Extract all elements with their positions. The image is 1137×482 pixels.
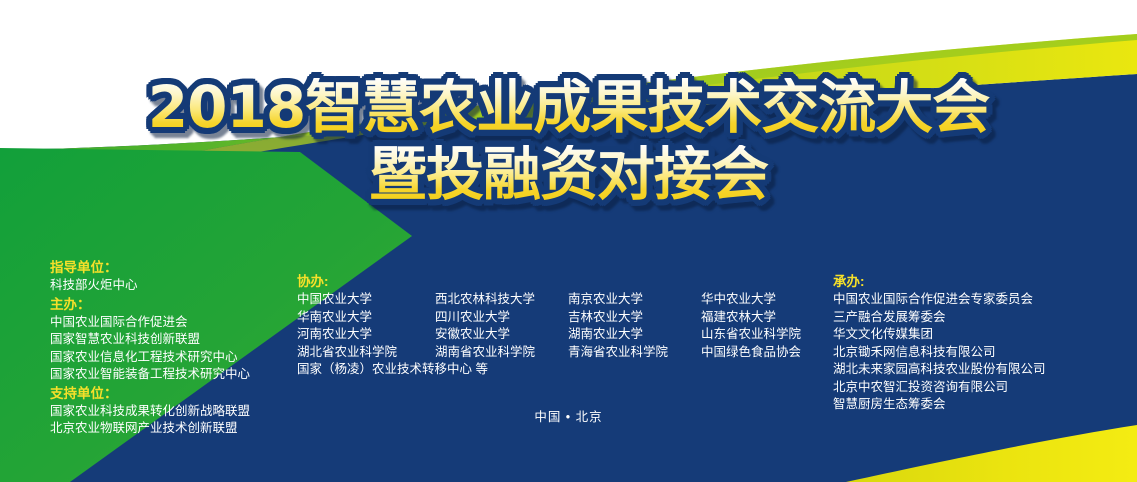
co-organizer-item: 华中农业大学 xyxy=(701,291,801,309)
host-item: 中国农业国际合作促进会 xyxy=(50,314,250,332)
co-organizer-item: 安徽农业大学 xyxy=(435,326,568,344)
organizer-item: 华文文化传媒集团 xyxy=(833,326,1046,344)
co-organizer-item: 四川农业大学 xyxy=(435,309,568,327)
host-header: 主办： xyxy=(50,295,250,314)
poster-banner: 2018智慧农业成果技术交流大会 暨投融资对接会 指导单位： 科技部火炬中心 主… xyxy=(0,0,1137,482)
co-organizer-item: 山东省农业科学院 xyxy=(701,326,801,344)
guidance-unit-item: 科技部火炬中心 xyxy=(50,277,250,295)
venue-label: 中国 • 北京 xyxy=(0,406,1137,425)
co-organizer-item: 湖南农业大学 xyxy=(568,326,701,344)
co-organizer-item: 中国绿色食品协会 xyxy=(701,344,801,362)
co-organizer-item: 西北农林科技大学 xyxy=(435,291,568,309)
co-organizer-item: 青海省农业科学院 xyxy=(568,344,701,362)
co-organizer-item: 中国农业大学 xyxy=(297,291,435,309)
host-item: 国家农业智能装备工程技术研究中心 xyxy=(50,366,250,384)
organizer-item: 北京中农智汇投资咨询有限公司 xyxy=(833,379,1046,397)
co-organizer-item: 湖北省农业科学院 xyxy=(297,344,435,362)
organizer-item: 北京锄禾网信息科技有限公司 xyxy=(833,344,1046,362)
co-organizer-item: 南京农业大学 xyxy=(568,291,701,309)
host-item: 国家农业信息化工程技术研究中心 xyxy=(50,349,250,367)
organizer-column: 承办: 中国农业国际合作促进会专家委员会 三产融合发展筹委会 华文文化传媒集团 … xyxy=(833,272,1046,414)
co-organizer-grid: 中国农业大学 西北农林科技大学 南京农业大学 华中农业大学 华南农业大学 四川农… xyxy=(297,291,801,379)
organizer-item: 中国农业国际合作促进会专家委员会 xyxy=(833,291,1046,309)
co-organizer-item: 福建农林大学 xyxy=(701,309,801,327)
co-organizer-item: 吉林农业大学 xyxy=(568,309,701,327)
co-organizer-item: 华南农业大学 xyxy=(297,309,435,327)
co-organizer-item: 河南农业大学 xyxy=(297,326,435,344)
support-unit-header: 支持单位： xyxy=(50,384,250,403)
organizer-item: 三产融合发展筹委会 xyxy=(833,309,1046,327)
co-organizer-column: 协办: 中国农业大学 西北农林科技大学 南京农业大学 华中农业大学 华南农业大学… xyxy=(297,272,801,379)
co-organizer-last-item: 国家（杨凌）农业技术转移中心 等 xyxy=(297,361,801,379)
organizer-header: 承办: xyxy=(833,272,1046,291)
co-organizer-header: 协办: xyxy=(297,272,801,291)
host-item: 国家智慧农业科技创新联盟 xyxy=(50,331,250,349)
guidance-unit-header: 指导单位： xyxy=(50,258,250,277)
organizer-item: 湖北未来家园高科技农业股份有限公司 xyxy=(833,361,1046,379)
co-organizer-item: 湖南省农业科学院 xyxy=(435,344,568,362)
